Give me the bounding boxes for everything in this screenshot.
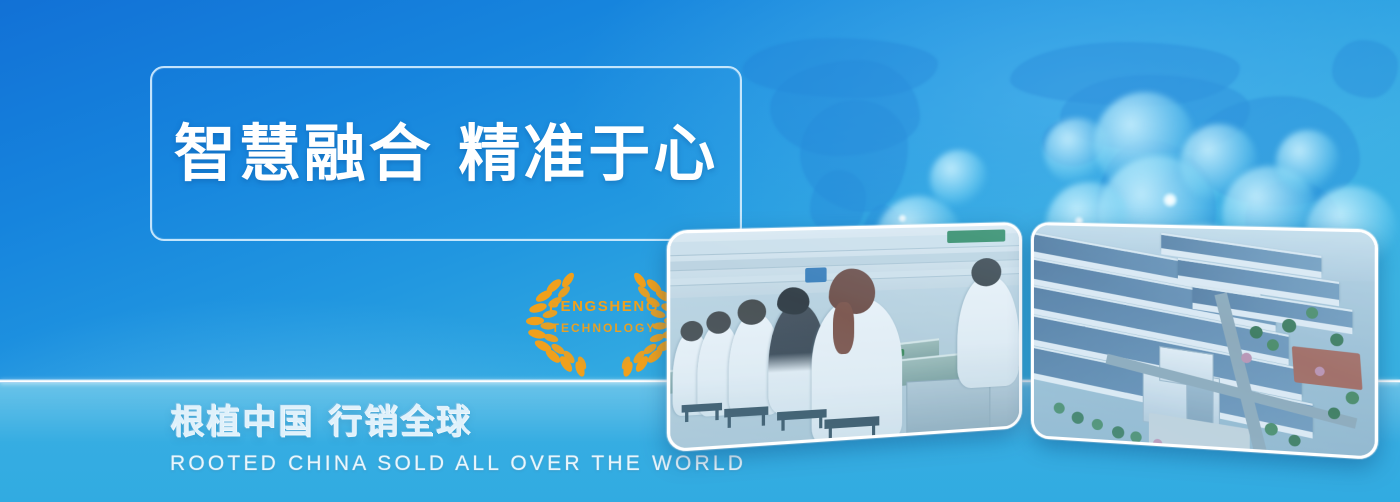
photo-panel-group (686, 222, 1366, 460)
slogan-chinese: 根植中国 行销全球 (170, 394, 746, 443)
pengsheng-wreath-badge: PENGSHENG TECHNOLOGY (524, 268, 684, 378)
factory-campus-image (1034, 225, 1375, 457)
slogan-english: ROOTED CHINA SOLD ALL OVER THE WORLD (170, 452, 746, 476)
photo-panel-production-line[interactable] (667, 222, 1022, 452)
photo-panel-factory-campus[interactable] (1031, 222, 1378, 460)
production-line-image (670, 225, 1019, 449)
promo-banner: 智慧融合 精准于心 (0, 0, 1400, 502)
badge-company-name: PENGSHENG (524, 298, 684, 315)
headline-frame: 智慧融合 精准于心 (150, 66, 742, 241)
badge-company-sub: TECHNOLOGY (524, 321, 684, 335)
slogan: 根植中国 行销全球 ROOTED CHINA SOLD ALL OVER THE… (170, 394, 746, 476)
page-title: 智慧融合 精准于心 (152, 123, 740, 185)
badge-text: PENGSHENG TECHNOLOGY (524, 298, 684, 335)
